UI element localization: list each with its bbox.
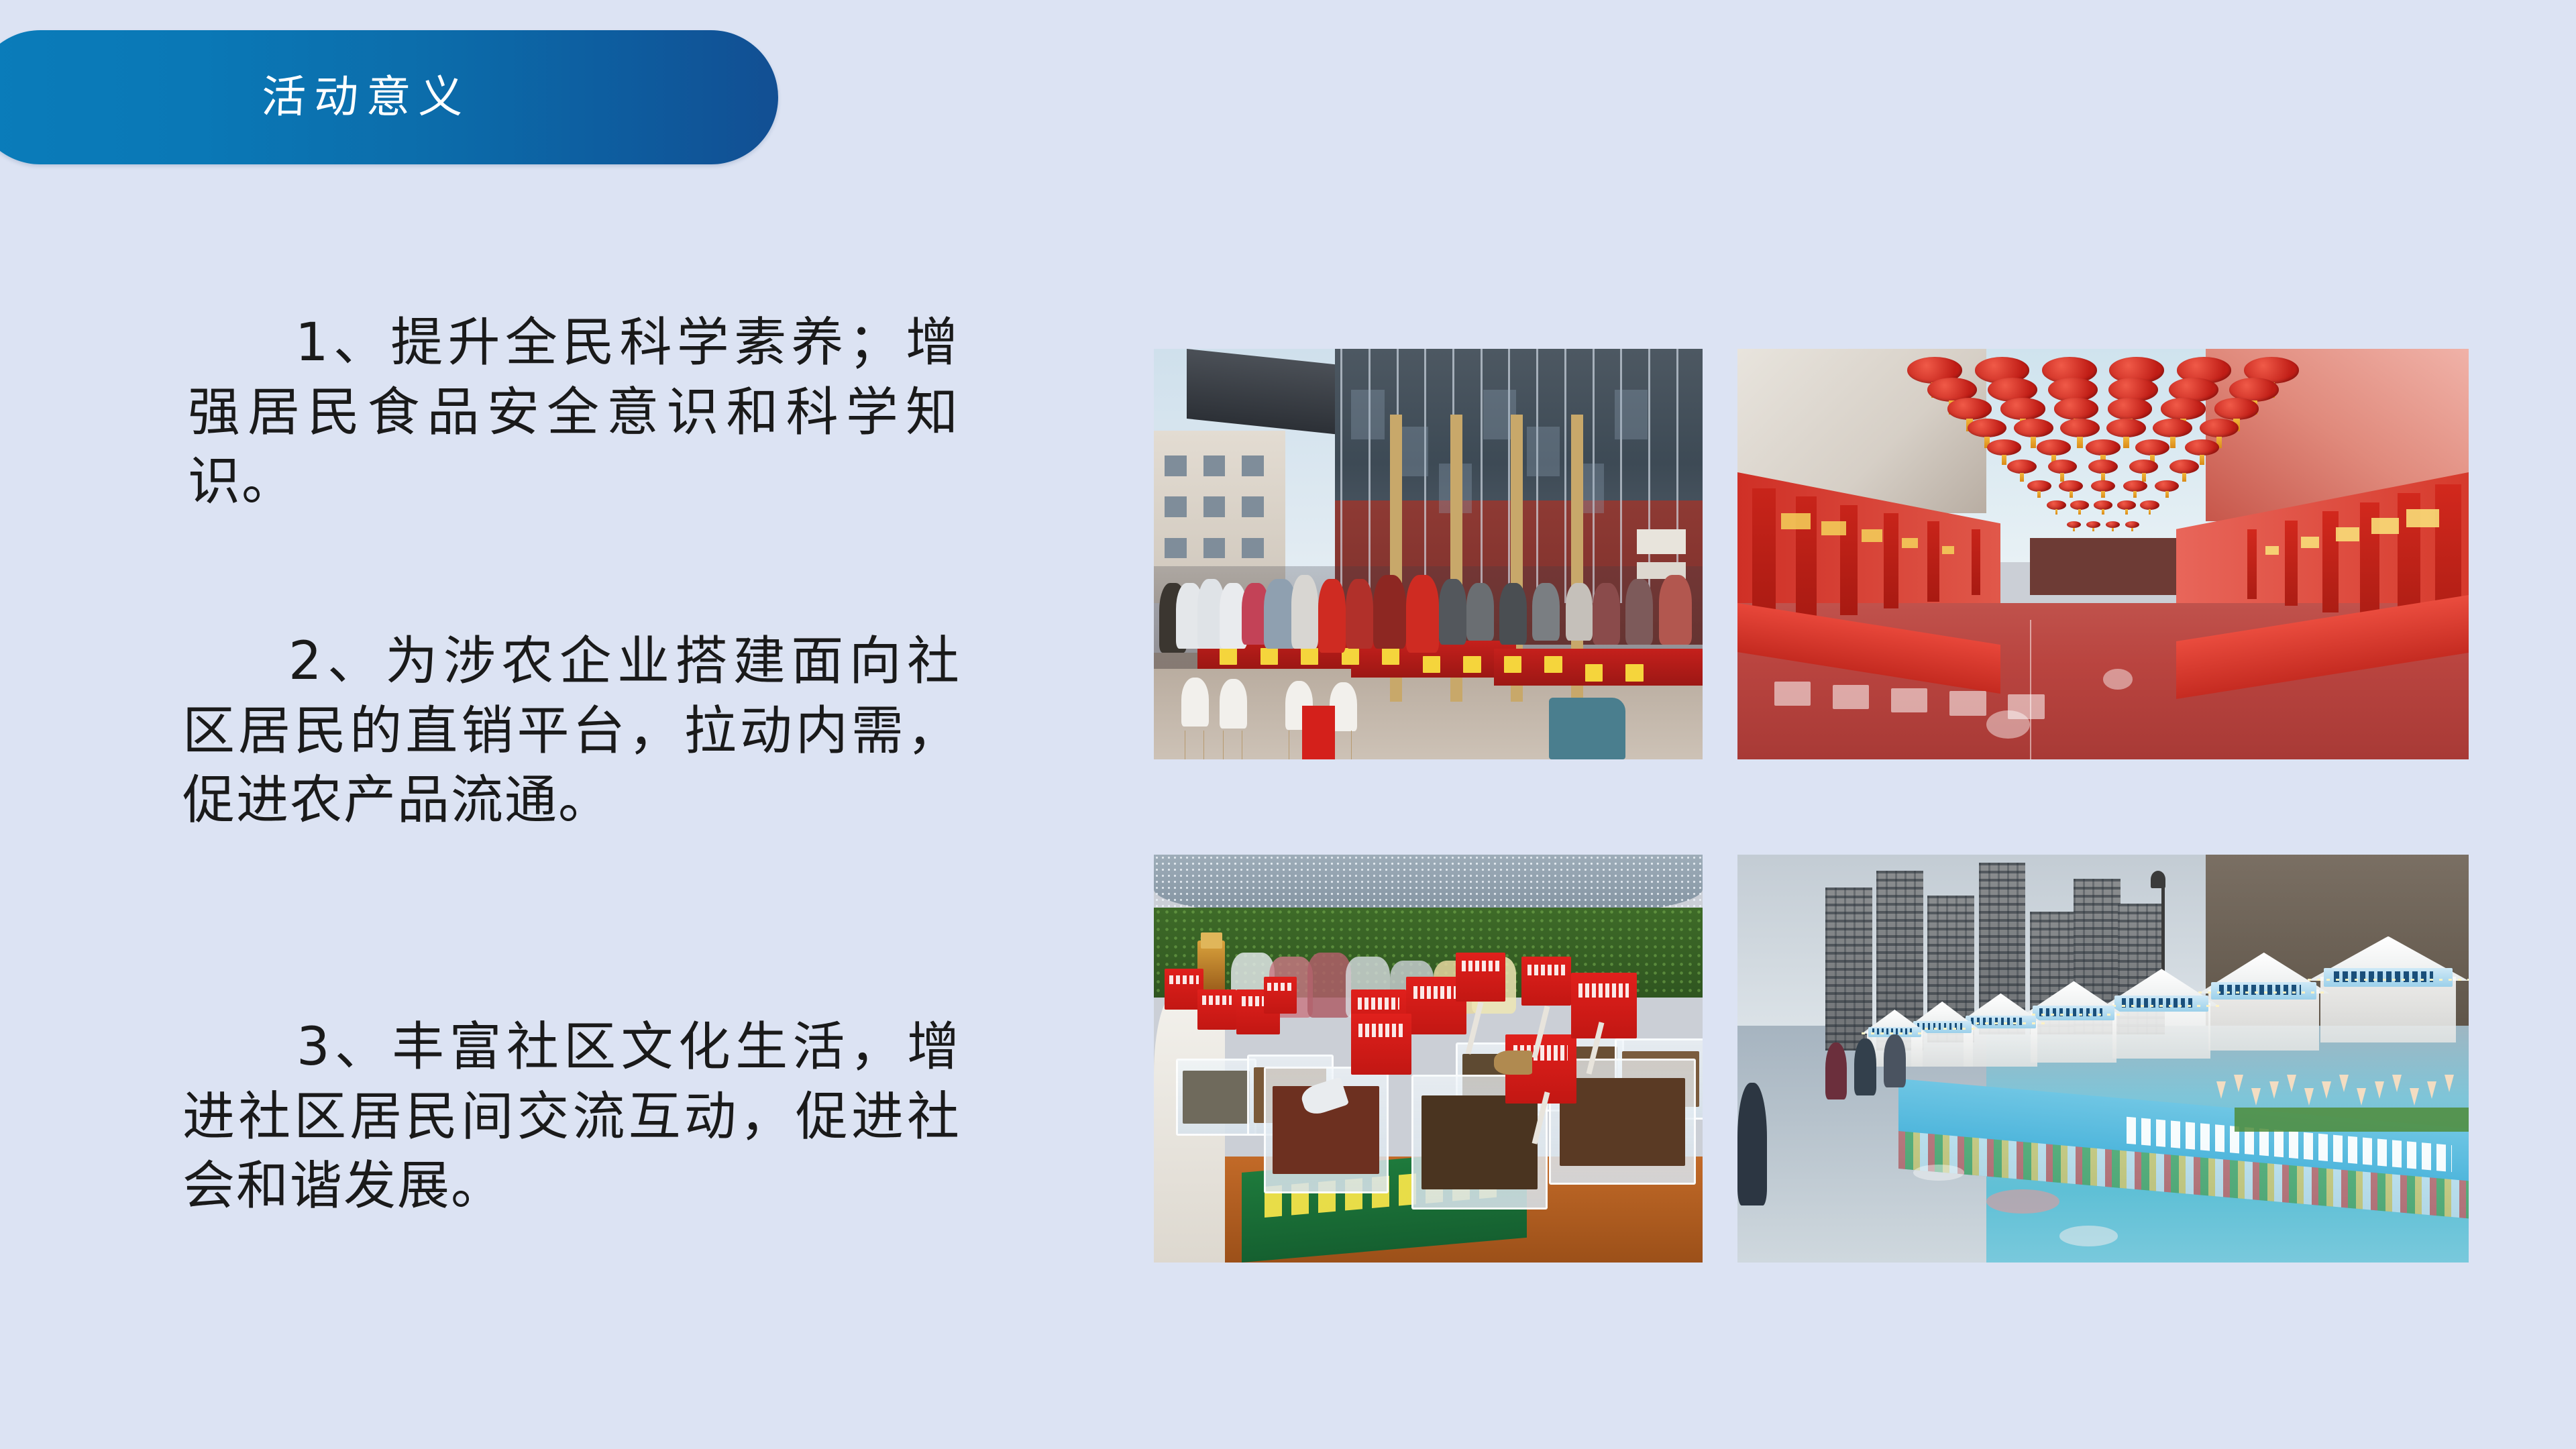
stall-pillar xyxy=(2322,511,2339,612)
floor-emblem xyxy=(2103,669,2133,690)
stall-pillar xyxy=(2247,529,2257,599)
floor-seam xyxy=(2030,620,2031,759)
ice-cream-cone xyxy=(2251,1088,2261,1106)
red-lantern xyxy=(2161,398,2205,419)
glass-mullion xyxy=(1536,349,1538,603)
glass-mullion xyxy=(1368,349,1371,603)
stall-sign xyxy=(2371,518,2400,534)
glass-reflection xyxy=(1351,390,1384,439)
lantern-tassel xyxy=(2055,509,2058,515)
person xyxy=(1373,575,1406,649)
red-lantern xyxy=(2106,521,2120,528)
lantern-tassel xyxy=(2078,509,2081,515)
lantern-tassel xyxy=(2125,509,2128,515)
ice-cream-cone xyxy=(2357,1088,2366,1106)
person xyxy=(1625,579,1653,645)
lantern-tassel xyxy=(2149,509,2151,515)
red-lantern xyxy=(2014,419,2053,437)
banner-char xyxy=(1382,648,1399,665)
chair xyxy=(1181,678,1209,727)
ice-cream-cone xyxy=(2392,1075,2402,1092)
red-lantern xyxy=(2088,460,2118,474)
display-grass xyxy=(2235,1108,2469,1132)
stall-sign xyxy=(2265,546,2279,555)
price-sign xyxy=(1521,957,1571,1006)
person xyxy=(1566,583,1593,641)
banner-char xyxy=(1625,664,1643,682)
photo-tent-market xyxy=(1737,855,2469,1263)
lantern-tassel xyxy=(2060,473,2064,481)
ice-cream-cone xyxy=(2304,1088,2314,1106)
chair-leg xyxy=(1223,731,1224,759)
tote-bag xyxy=(1549,698,1626,759)
point-paragraph-2: 2、为涉农企业搭建面向社区居民的直销平台，拉动内需，促进农产品流通。 xyxy=(182,627,961,836)
lantern-tassel xyxy=(2123,437,2129,448)
photo-lantern-market-canvas xyxy=(1737,349,2469,759)
wall-sign xyxy=(1637,529,1686,554)
ice-cream-cone xyxy=(2445,1075,2454,1092)
red-lantern xyxy=(2125,521,2139,528)
person xyxy=(1318,579,1346,653)
building-window xyxy=(1165,496,1187,517)
stall-sign xyxy=(1821,521,1846,535)
point-paragraph-3: 3、丰富社区文化生活，增进社区居民间交流互动，促进社会和谐发展。 xyxy=(182,1013,961,1222)
residential-tower xyxy=(1825,888,1872,1051)
glass-mullion xyxy=(1340,349,1342,603)
ice-cream-cone xyxy=(2269,1081,2279,1099)
banner-char xyxy=(1585,664,1603,682)
lantern-tassel xyxy=(2142,473,2146,481)
lantern-tassel xyxy=(2200,455,2204,464)
tent-light-string xyxy=(2198,991,2330,994)
person xyxy=(1291,575,1319,649)
person xyxy=(1346,579,1373,649)
ice-cream-cone xyxy=(2287,1075,2296,1092)
point-paragraph-1: 1、提升全民科学素养；增强居民食品安全意识和科学知识。 xyxy=(188,309,959,517)
photo-tent-market-canvas xyxy=(1737,855,2469,1263)
red-lantern xyxy=(2086,521,2100,528)
street-lamp-head xyxy=(2151,871,2165,888)
banner-char xyxy=(1301,648,1318,665)
person xyxy=(1466,583,1494,641)
photo-community-fair-canvas xyxy=(1154,349,1703,759)
lantern-tassel xyxy=(2112,528,2114,532)
stall-pillar xyxy=(1884,513,1898,608)
person xyxy=(1593,583,1620,645)
shopper xyxy=(1737,1083,1767,1205)
product-bag xyxy=(1307,953,1351,1018)
ice-cream-cone xyxy=(2410,1088,2419,1106)
building-window xyxy=(1165,538,1187,559)
tent-light-string xyxy=(2103,1005,2220,1007)
content-area: 1、提升全民科学素养；增强居民食品安全意识和科学知识。 2、为涉农企业搭建面向社… xyxy=(0,164,2576,1449)
glass-reflection xyxy=(1527,427,1560,476)
stall-sign xyxy=(1902,538,1918,548)
red-lantern xyxy=(2185,439,2219,456)
page-title: 活动意义 xyxy=(261,75,472,119)
red-lantern xyxy=(2091,480,2115,492)
lantern-tassel xyxy=(2101,491,2104,498)
lantern-tassel xyxy=(2131,528,2133,532)
glass-mullion xyxy=(1481,349,1483,603)
red-lantern xyxy=(1947,398,1992,419)
shopper xyxy=(1884,1034,1906,1087)
building-window xyxy=(1242,496,1264,517)
price-sign xyxy=(1197,989,1236,1030)
stall-sign xyxy=(2406,509,2439,528)
shopping-bag xyxy=(1302,706,1335,759)
banner-char xyxy=(1504,656,1521,674)
photo-spice-stall-canvas xyxy=(1154,855,1703,1263)
tent-light-string xyxy=(2308,979,2469,981)
price-sign xyxy=(1571,973,1637,1038)
bin-contents xyxy=(1183,1071,1250,1124)
building-window xyxy=(1203,455,1226,476)
plaza-paint xyxy=(2059,1226,2118,1246)
floor-character xyxy=(1891,688,1928,713)
chair-leg xyxy=(1351,731,1352,759)
ice-cream-cone xyxy=(2216,1081,2226,1099)
ice-cream-cone xyxy=(2322,1081,2331,1099)
photo-grid xyxy=(1154,349,2469,1426)
floor-character xyxy=(1833,685,1870,710)
glass-reflection xyxy=(1615,390,1648,439)
red-lantern xyxy=(2007,460,2037,474)
banner-char xyxy=(1463,656,1481,674)
lantern-tassel xyxy=(2031,437,2036,448)
shopper xyxy=(1854,1038,1876,1095)
header-banner: 活动意义 xyxy=(0,30,778,164)
red-lantern xyxy=(2054,398,2098,419)
floor-character xyxy=(1774,682,1811,706)
red-lantern xyxy=(2108,398,2152,419)
glass-mullion xyxy=(1620,349,1622,603)
red-lantern xyxy=(2117,500,2136,510)
banner-char xyxy=(1260,648,1278,665)
lantern-tassel xyxy=(2070,491,2073,498)
ice-cream-cone xyxy=(2234,1075,2243,1092)
lantern-tassel xyxy=(2092,528,2094,532)
photo-lantern-market xyxy=(1737,349,2469,759)
red-lantern xyxy=(2214,398,2259,419)
red-lantern xyxy=(2047,500,2065,510)
building-window xyxy=(1203,496,1226,517)
red-lantern xyxy=(2086,439,2120,456)
red-lantern xyxy=(2067,521,2081,528)
banner-char xyxy=(1423,656,1440,674)
lantern-tassel xyxy=(2020,473,2024,481)
chair-leg xyxy=(1289,731,1289,759)
floor-emblem xyxy=(1986,710,2030,739)
lantern-tassel xyxy=(2073,528,2075,532)
plaza-paint xyxy=(1986,1189,2059,1214)
price-sign xyxy=(1264,977,1297,1014)
glass-mullion xyxy=(1424,349,1426,603)
ice-cream-cone xyxy=(2339,1075,2349,1092)
lantern-tassel xyxy=(2133,491,2137,498)
bin-contents xyxy=(1560,1078,1685,1166)
person xyxy=(1499,583,1527,645)
chair-leg xyxy=(1203,731,1204,759)
product-bin xyxy=(1176,1059,1257,1136)
building-window xyxy=(1165,455,1187,476)
red-lantern xyxy=(2123,480,2147,492)
ice-cream-cone xyxy=(2427,1081,2436,1099)
price-sign xyxy=(1456,953,1505,1002)
person xyxy=(1532,583,1560,641)
building-window xyxy=(1242,538,1264,559)
chair xyxy=(1220,679,1247,728)
stall-sign xyxy=(1781,513,1811,529)
chair-leg xyxy=(1242,731,1242,759)
photo-community-fair xyxy=(1154,349,1703,759)
shopper xyxy=(1825,1042,1847,1099)
red-lantern xyxy=(2140,500,2159,510)
bin-contents xyxy=(1421,1095,1538,1189)
stall-sign xyxy=(2336,527,2359,541)
lantern-tassel xyxy=(2102,509,2104,515)
person xyxy=(1439,579,1466,645)
chair-leg xyxy=(1185,731,1185,759)
stall-sign xyxy=(1862,529,1882,541)
lantern-tassel xyxy=(2165,491,2169,498)
glass-mullion xyxy=(1564,349,1566,603)
stall-sign xyxy=(2301,537,2319,548)
price-sign xyxy=(1351,1014,1411,1075)
text-column: 1、提升全民科学素养；增强居民食品安全意识和科学知识。 2、为涉农企业搭建面向社… xyxy=(0,164,1140,1449)
stall-pillar xyxy=(2285,521,2298,606)
building-window xyxy=(1203,538,1226,559)
photo-spice-stall xyxy=(1154,855,1703,1263)
lantern-tassel xyxy=(2182,473,2186,481)
banner-char xyxy=(1220,648,1237,665)
ice-cream-cone xyxy=(2375,1081,2384,1099)
banner-char xyxy=(1544,656,1562,674)
stall-sign xyxy=(1942,546,1953,554)
person xyxy=(1406,575,1439,653)
red-lantern xyxy=(2037,439,2071,456)
building-window xyxy=(1242,455,1264,476)
lantern-tassel xyxy=(2170,437,2176,448)
red-lantern xyxy=(2027,480,2051,492)
lantern-tassel xyxy=(2037,491,2041,498)
tower-windows xyxy=(1825,888,1872,1051)
stall-pillar xyxy=(1927,521,1939,602)
lantern-tassel xyxy=(2002,455,2006,464)
red-lantern xyxy=(2000,398,2045,419)
floor-character xyxy=(1949,691,1986,716)
stall-pillar xyxy=(1972,529,1980,595)
tent-light-string xyxy=(2023,1014,2125,1016)
lantern-tassel xyxy=(2077,437,2082,448)
bottle-cap xyxy=(1201,932,1223,949)
scoop xyxy=(1494,1051,1532,1075)
person xyxy=(1659,575,1692,645)
